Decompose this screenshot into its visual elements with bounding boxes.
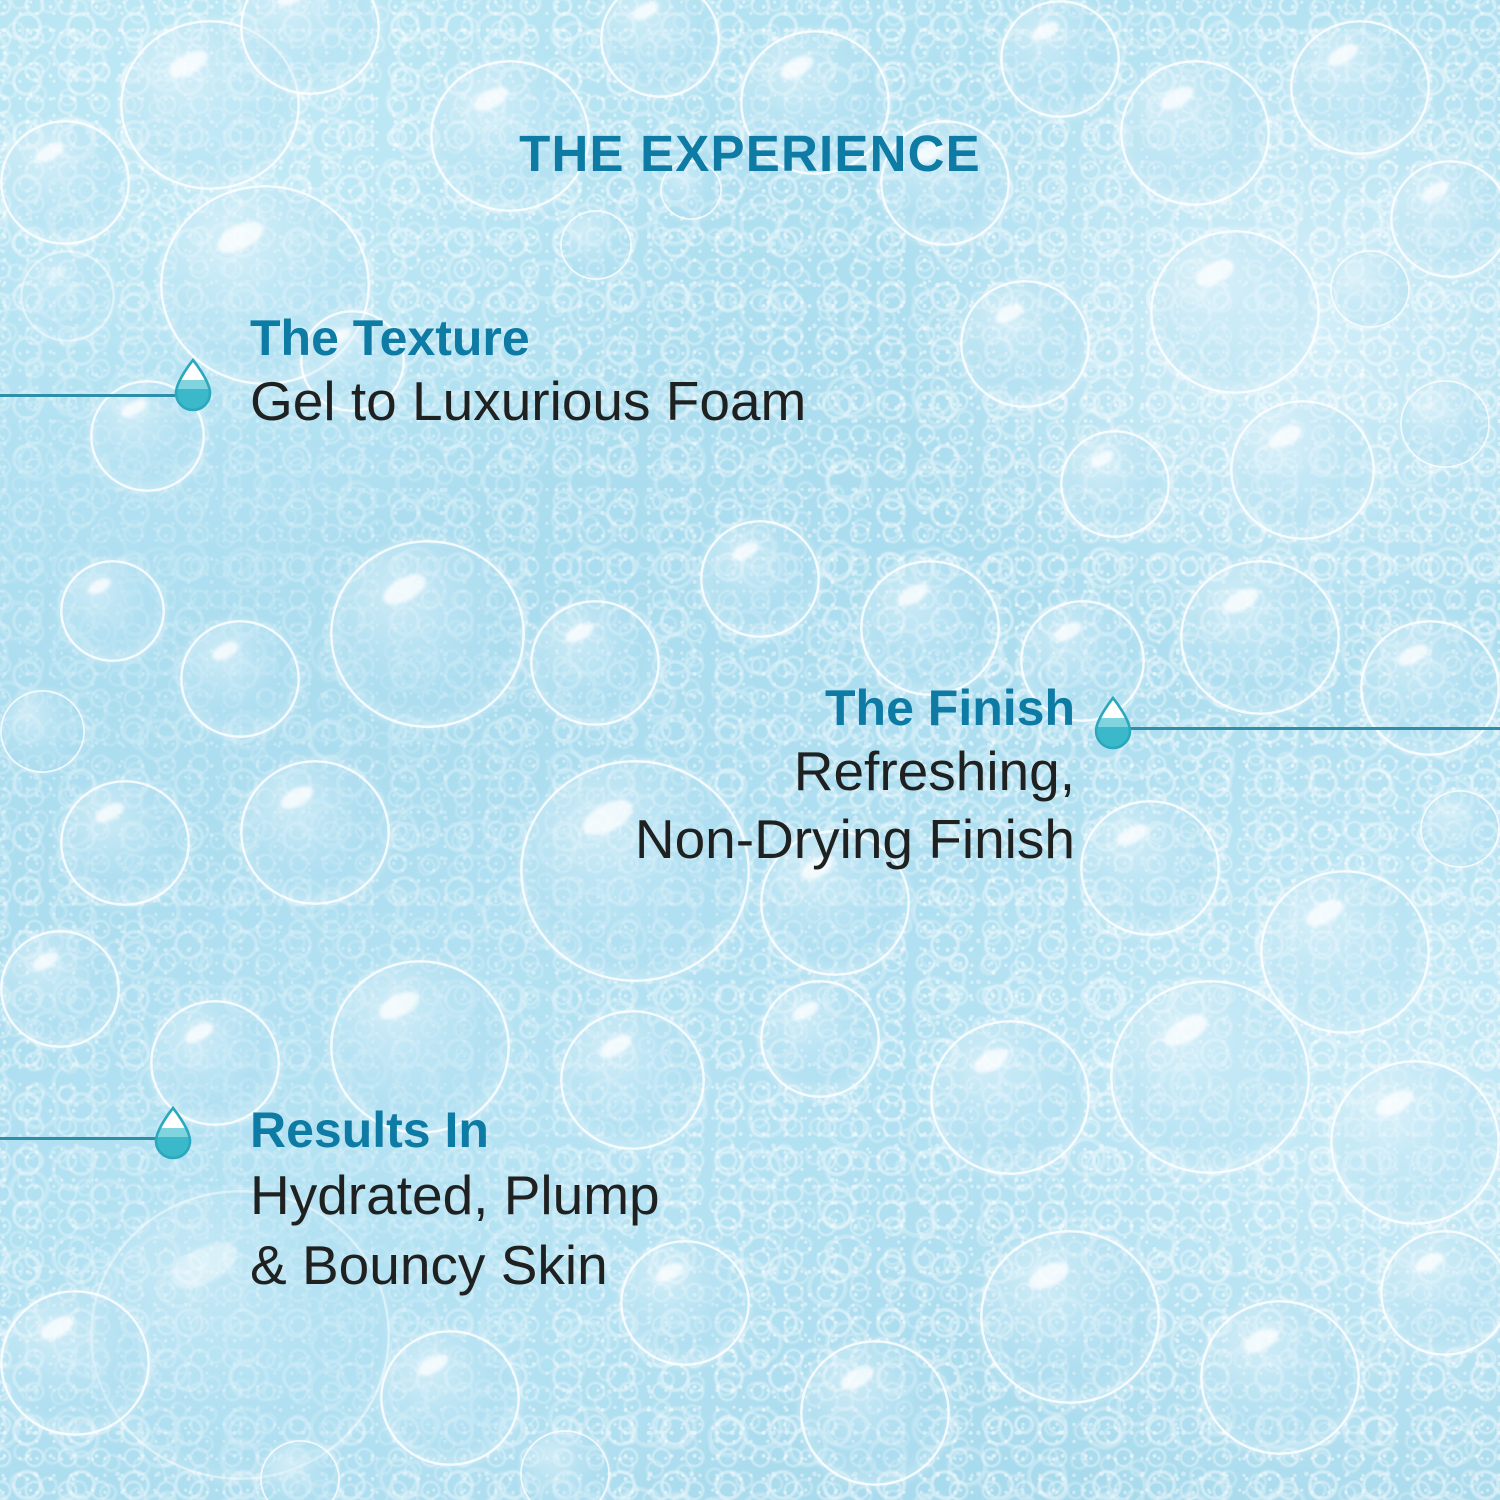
bubble	[1150, 230, 1320, 394]
bubble	[0, 930, 120, 1048]
bubble	[930, 1020, 1090, 1175]
bubble	[1200, 1300, 1360, 1455]
bubble	[1260, 870, 1430, 1034]
bubble	[600, 0, 720, 98]
connector-line-results	[0, 1137, 158, 1140]
bubble	[1420, 790, 1500, 868]
bubble	[700, 520, 820, 638]
experience-infographic: THE EXPERIENCE The Texture Gel to Luxuri…	[0, 0, 1500, 1500]
section-texture-heading: The Texture	[250, 312, 806, 365]
water-droplet-icon	[1092, 696, 1134, 750]
bubble	[980, 1230, 1160, 1404]
connector-line-texture	[0, 394, 176, 397]
page-title: THE EXPERIENCE	[0, 124, 1500, 183]
bubble	[1080, 800, 1220, 936]
bubble	[760, 980, 880, 1098]
bubble	[180, 620, 300, 738]
bubble	[1180, 560, 1340, 715]
section-finish-body-line-1: Refreshing,	[635, 741, 1075, 803]
bubble	[260, 1440, 340, 1500]
bubble	[1380, 1230, 1500, 1356]
section-finish-body-line-2: Non-Drying Finish	[635, 809, 1075, 871]
bubble	[1400, 380, 1490, 468]
bubble	[240, 760, 390, 905]
bubble	[1230, 400, 1375, 540]
water-droplet-icon	[152, 1106, 194, 1160]
bubble	[60, 780, 190, 906]
bubble	[860, 560, 1000, 696]
bubble	[240, 0, 380, 95]
bubble	[20, 250, 115, 342]
section-results-heading: Results In	[250, 1104, 660, 1157]
connector-line-finish	[1128, 727, 1500, 730]
section-finish: The Finish Refreshing, Non-Drying Finish	[635, 682, 1075, 870]
bubble	[1000, 0, 1120, 118]
bubble	[520, 1430, 610, 1500]
bubble	[0, 1290, 150, 1436]
bubble	[1110, 980, 1310, 1174]
section-results: Results In Hydrated, Plump & Bouncy Skin	[250, 1104, 660, 1296]
bubble	[1060, 430, 1170, 538]
section-results-body-line-1: Hydrated, Plump	[250, 1165, 660, 1227]
bubble	[330, 540, 525, 728]
bubble	[1330, 1060, 1500, 1225]
bubble	[0, 690, 85, 773]
section-finish-heading: The Finish	[635, 682, 1075, 735]
water-droplet-icon	[172, 358, 214, 412]
bubble	[1360, 620, 1500, 756]
bubble	[380, 1330, 520, 1466]
section-texture: The Texture Gel to Luxurious Foam	[250, 312, 806, 433]
section-results-body-line-2: & Bouncy Skin	[250, 1235, 660, 1297]
bubble	[60, 560, 165, 662]
bubble	[800, 1340, 950, 1486]
bubble	[960, 280, 1090, 408]
bubble	[1330, 250, 1410, 328]
bubble	[560, 210, 632, 280]
section-texture-body-line-1: Gel to Luxurious Foam	[250, 371, 806, 433]
